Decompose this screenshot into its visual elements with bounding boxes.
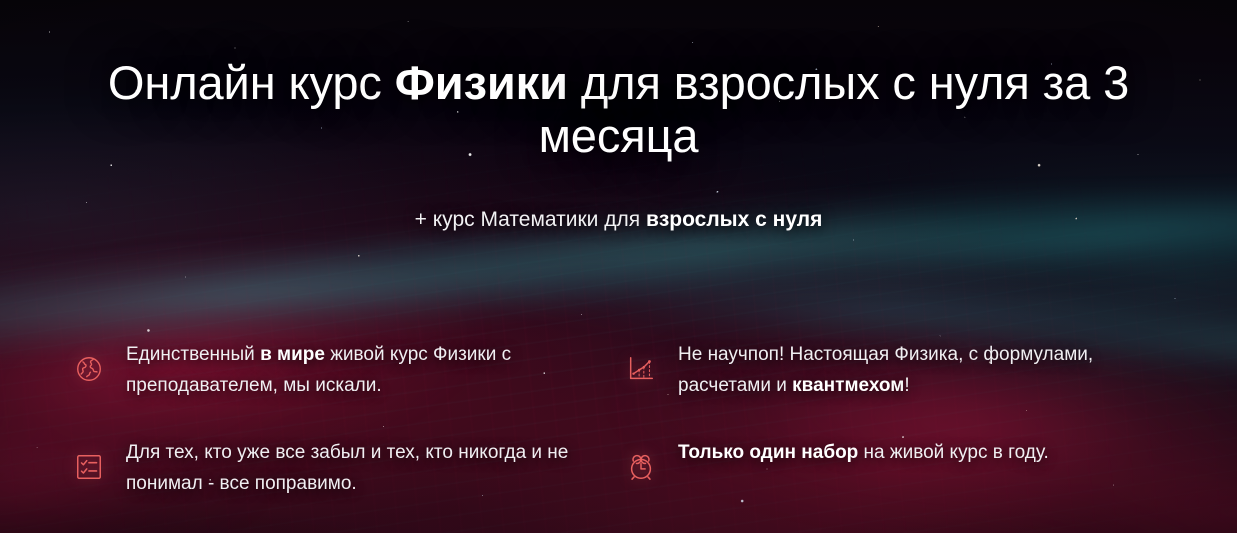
feature-text-single-intake: Только один набор на живой курс в году. [678,438,1049,469]
alarm-clock-icon [624,450,658,484]
hero-content: Онлайн курс Физики для взрослых с нуля з… [0,0,1237,533]
headline-emphasis-physics: Физики [395,56,568,109]
headline-part-1: Онлайн курс [108,56,395,109]
globe-icon [72,352,106,386]
page-subtitle: + курс Математики для взрослых с нуля [169,206,1069,233]
feature-1-emphasis: в мире [260,344,325,365]
feature-item-for-beginners: Для тех, кто уже все забыл и тех, кто ни… [72,438,624,510]
headline-part-3: для взрослых с нуля за 3 месяца [539,56,1130,162]
feature-text-worldwide-unique: Единственный в мире живой курс Физики с … [126,340,596,402]
feature-item-single-intake: Только один набор на живой курс в году. [624,438,1176,510]
feature-item-real-physics: Не научпоп! Настоящая Физика, с формулам… [624,340,1176,412]
line-chart-icon [624,352,658,386]
feature-text-real-physics: Не научпоп! Настоящая Физика, с формулам… [678,340,1148,402]
feature-text-for-beginners: Для тех, кто уже все забыл и тех, кто ни… [126,438,596,500]
feature-4-emphasis: Только один набор [678,442,858,463]
feature-2-emphasis: квантмехом [792,375,904,396]
feature-list: Единственный в мире живой курс Физики с … [72,340,1172,510]
hero-section: Онлайн курс Физики для взрослых с нуля з… [0,0,1237,533]
feature-item-worldwide-unique: Единственный в мире живой курс Физики с … [72,340,624,412]
subtitle-part-1: + курс Математики для [415,208,646,231]
subtitle-emphasis: взрослых с нуля [646,208,822,231]
feature-1-part-1: Единственный [126,344,260,365]
feature-2-part-3: ! [904,375,909,396]
feature-3-text: Для тех, кто уже все забыл и тех, кто ни… [126,442,568,494]
checklist-icon [72,450,106,484]
feature-4-part-2: на живой курс в году. [858,442,1048,463]
page-title: Онлайн курс Физики для взрослых с нуля з… [54,56,1184,162]
